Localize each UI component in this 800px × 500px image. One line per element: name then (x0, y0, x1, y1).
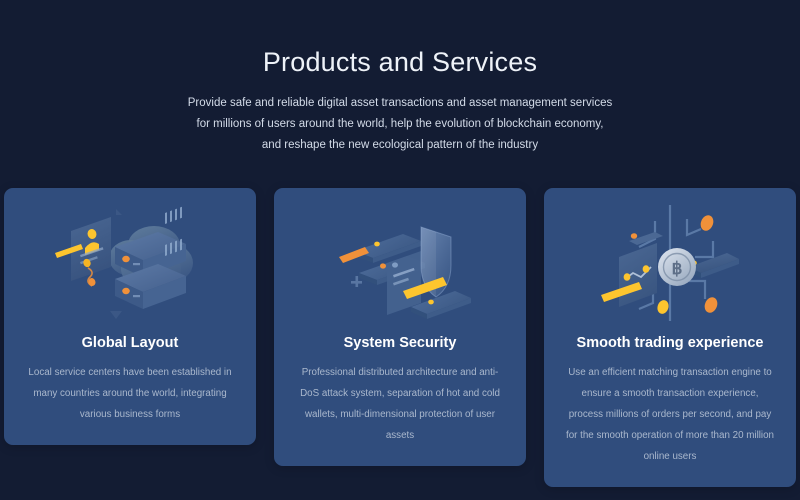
products-and-services-page: Products and Services Provide safe and r… (0, 0, 800, 500)
bitcoin-network-illustration: ฿ (558, 202, 782, 330)
feature-card-global-layout[interactable]: Global Layout Local service centers have… (4, 188, 256, 445)
card-description: Use an efficient matching transaction en… (558, 362, 782, 467)
page-header: Products and Services Provide safe and r… (0, 0, 800, 156)
card-description: Professional distributed architecture an… (288, 362, 512, 446)
page-subtitle-line: Provide safe and reliable digital asset … (0, 93, 800, 114)
card-title: System Security (288, 334, 512, 353)
shield-security-illustration (288, 202, 512, 330)
card-description: Local service centers have been establis… (18, 362, 242, 425)
page-subtitle-line: and reshape the new ecological pattern o… (0, 135, 800, 156)
card-title: Global Layout (18, 334, 242, 353)
cloud-server-illustration (18, 202, 242, 330)
feature-card-smooth-trading[interactable]: ฿ Smooth trading experience Use an effic… (544, 188, 796, 487)
svg-text:฿: ฿ (672, 259, 683, 278)
feature-card-list: Global Layout Local service centers have… (4, 188, 796, 487)
page-subtitle-line: for millions of users around the world, … (0, 114, 800, 135)
page-subtitle: Provide safe and reliable digital asset … (0, 93, 800, 157)
card-title: Smooth trading experience (558, 334, 782, 353)
feature-card-system-security[interactable]: System Security Professional distributed… (274, 188, 526, 466)
page-title: Products and Services (0, 48, 800, 78)
chart-panel (619, 243, 657, 307)
bitcoin-coin: ฿ (658, 248, 696, 286)
